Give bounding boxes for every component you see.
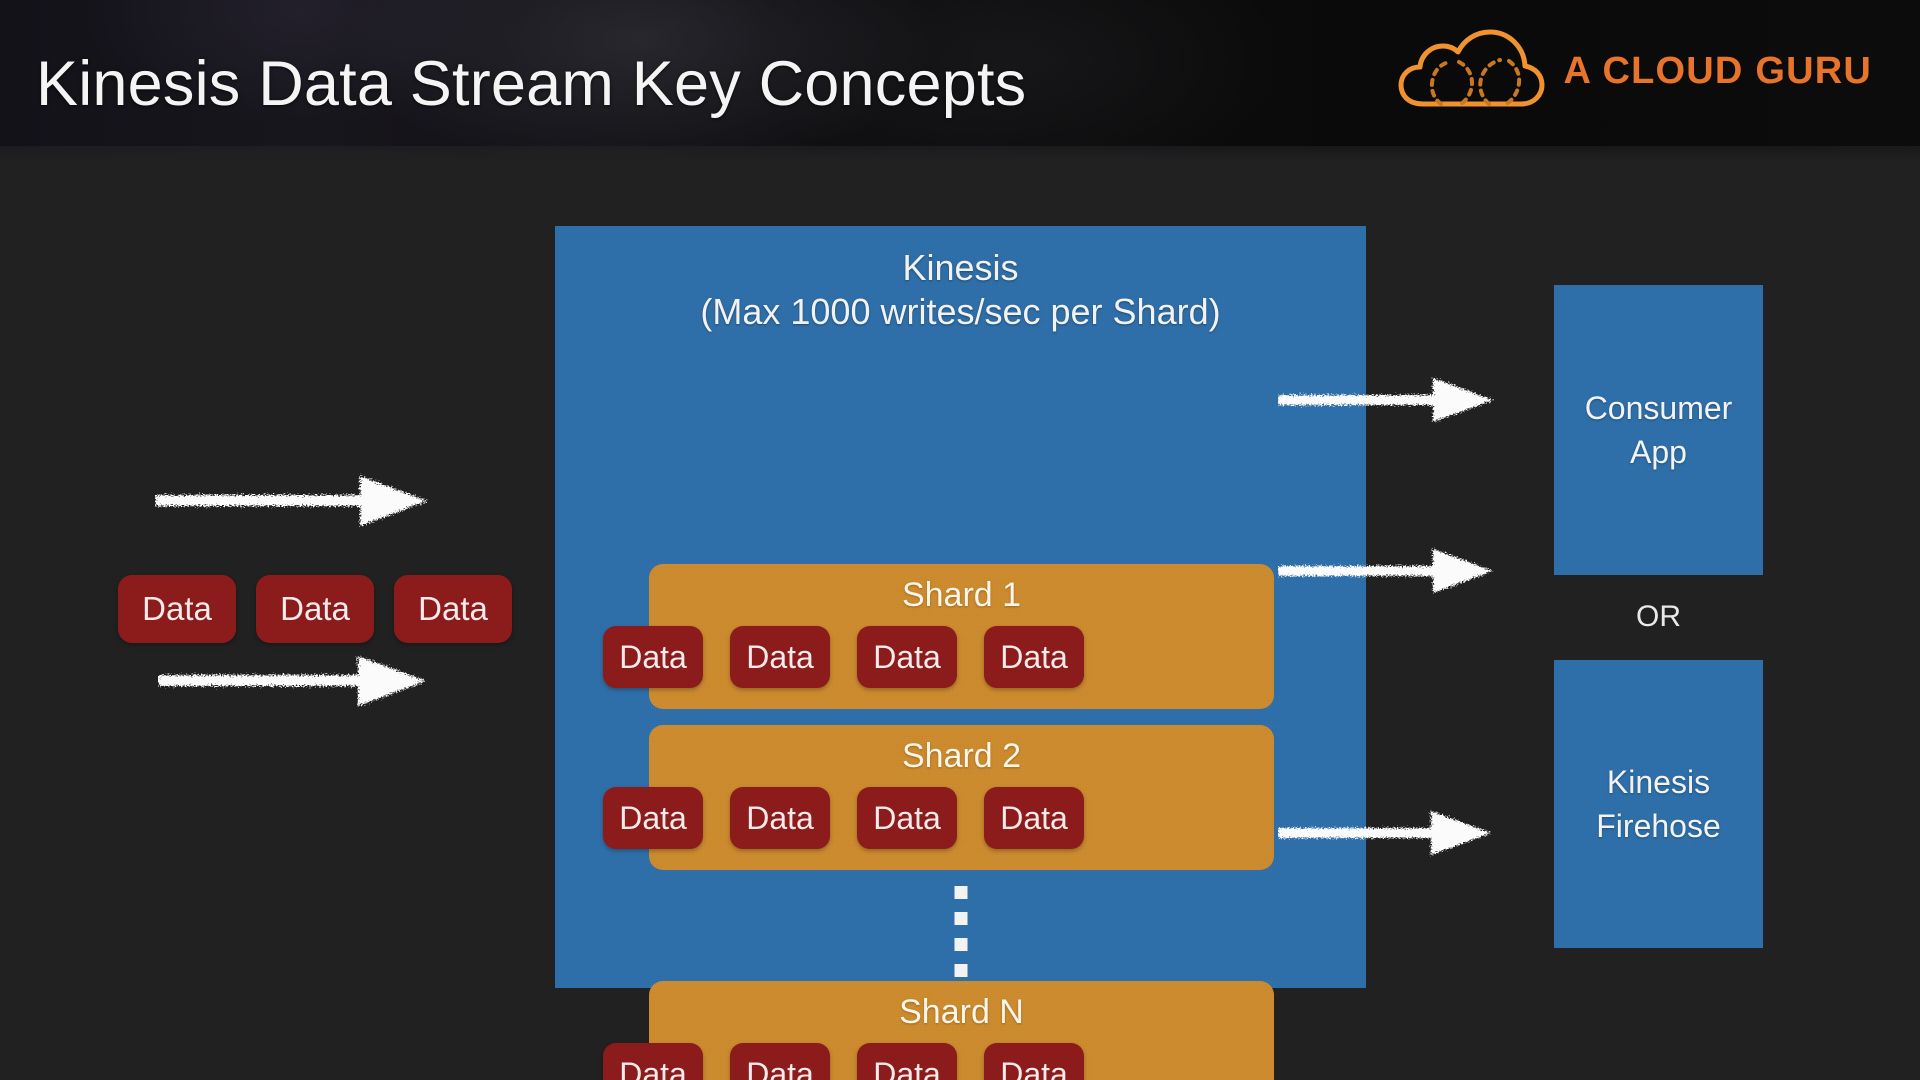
shard-label: Shard 1 [649, 576, 1274, 615]
consumer-app-line1: Consumer [1585, 386, 1733, 430]
shard-label: Shard 2 [649, 737, 1274, 776]
firehose-line1: Kinesis [1596, 760, 1721, 804]
shard-box: Shard 2 Data Data Data Data [649, 725, 1274, 870]
data-record: Data [730, 626, 830, 688]
data-record: Data [984, 1043, 1084, 1080]
shard-records: Data Data Data Data [603, 787, 1084, 849]
data-record: Data [857, 787, 957, 849]
kinesis-subtitle: (Max 1000 writes/sec per Shard) [555, 290, 1366, 334]
data-record: Data [984, 626, 1084, 688]
vertical-ellipsis-icon [954, 886, 967, 977]
shard-records: Data Data Data Data [603, 626, 1084, 688]
ellipsis-dot [954, 964, 967, 977]
data-record: Data [984, 787, 1084, 849]
consumer-app-line2: App [1585, 430, 1733, 474]
slide-canvas: Kinesis Data Stream Key Concepts A CLOUD… [0, 0, 1920, 1080]
data-record: Data [118, 575, 236, 643]
data-record: Data [730, 787, 830, 849]
page-title: Kinesis Data Stream Key Concepts [36, 48, 1026, 120]
brand-wordmark: A CLOUD GURU [1563, 50, 1872, 93]
producer-records: Data Data Data [118, 575, 512, 643]
or-separator-label: OR [1554, 600, 1763, 634]
data-record: Data [394, 575, 512, 643]
data-record: Data [603, 787, 703, 849]
shard-box: Shard N Data Data Data Data [649, 981, 1274, 1080]
arrow-right-icon [155, 470, 435, 532]
firehose-line2: Firehose [1596, 804, 1721, 848]
shard-label: Shard N [649, 993, 1274, 1032]
data-record: Data [603, 626, 703, 688]
consumer-app-box: Consumer App [1554, 285, 1763, 575]
ellipsis-dot [954, 886, 967, 899]
arrow-right-icon [158, 650, 438, 712]
kinesis-title: Kinesis [555, 246, 1366, 290]
shard-records: Data Data Data Data [603, 1043, 1084, 1080]
kinesis-firehose-box: Kinesis Firehose [1554, 660, 1763, 948]
shard-box: Shard 1 Data Data Data Data [649, 564, 1274, 709]
cloud-icon [1397, 28, 1545, 114]
data-record: Data [730, 1043, 830, 1080]
data-record: Data [857, 626, 957, 688]
data-record: Data [857, 1043, 957, 1080]
slide-header: Kinesis Data Stream Key Concepts A CLOUD… [0, 0, 1920, 162]
data-record: Data [256, 575, 374, 643]
brand-logo: A CLOUD GURU [1397, 28, 1872, 114]
ellipsis-dot [954, 912, 967, 925]
data-record: Data [603, 1043, 703, 1080]
kinesis-stream-container: Kinesis (Max 1000 writes/sec per Shard) … [555, 226, 1366, 988]
ellipsis-dot [954, 938, 967, 951]
